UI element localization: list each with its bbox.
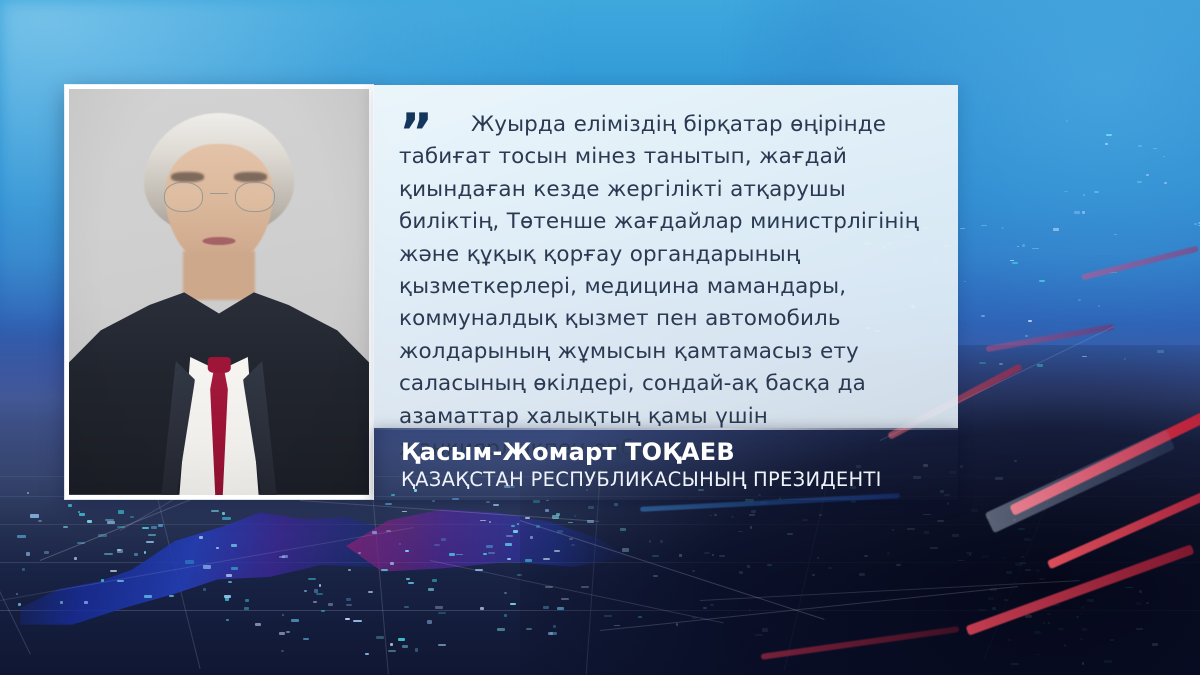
attribution-bar: Қасым-Жомарт ТОҚАЕВ ҚАЗАҚСТАН РЕСПУБЛИКА…: [373, 428, 958, 500]
quote-panel: ” Жуырда еліміздің бірқатар өңірінде таб…: [373, 85, 958, 428]
quote-card-screenshot: ” Жуырда еліміздің бірқатар өңірінде таб…: [0, 0, 1200, 675]
speaker-name: Қасым-Жомарт ТОҚАЕВ: [401, 437, 958, 467]
portrait-vignette: [69, 89, 369, 495]
portrait-photo: [69, 89, 369, 495]
quote-text: Жуырда еліміздің бірқатар өңірінде табиғ…: [399, 109, 932, 465]
speaker-role: ҚАЗАҚСТАН РЕСПУБЛИКАСЫНЫҢ ПРЕЗИДЕНТІ: [401, 467, 958, 493]
portrait-photo-frame: [65, 85, 373, 499]
quotation-mark-icon: ”: [399, 107, 432, 159]
